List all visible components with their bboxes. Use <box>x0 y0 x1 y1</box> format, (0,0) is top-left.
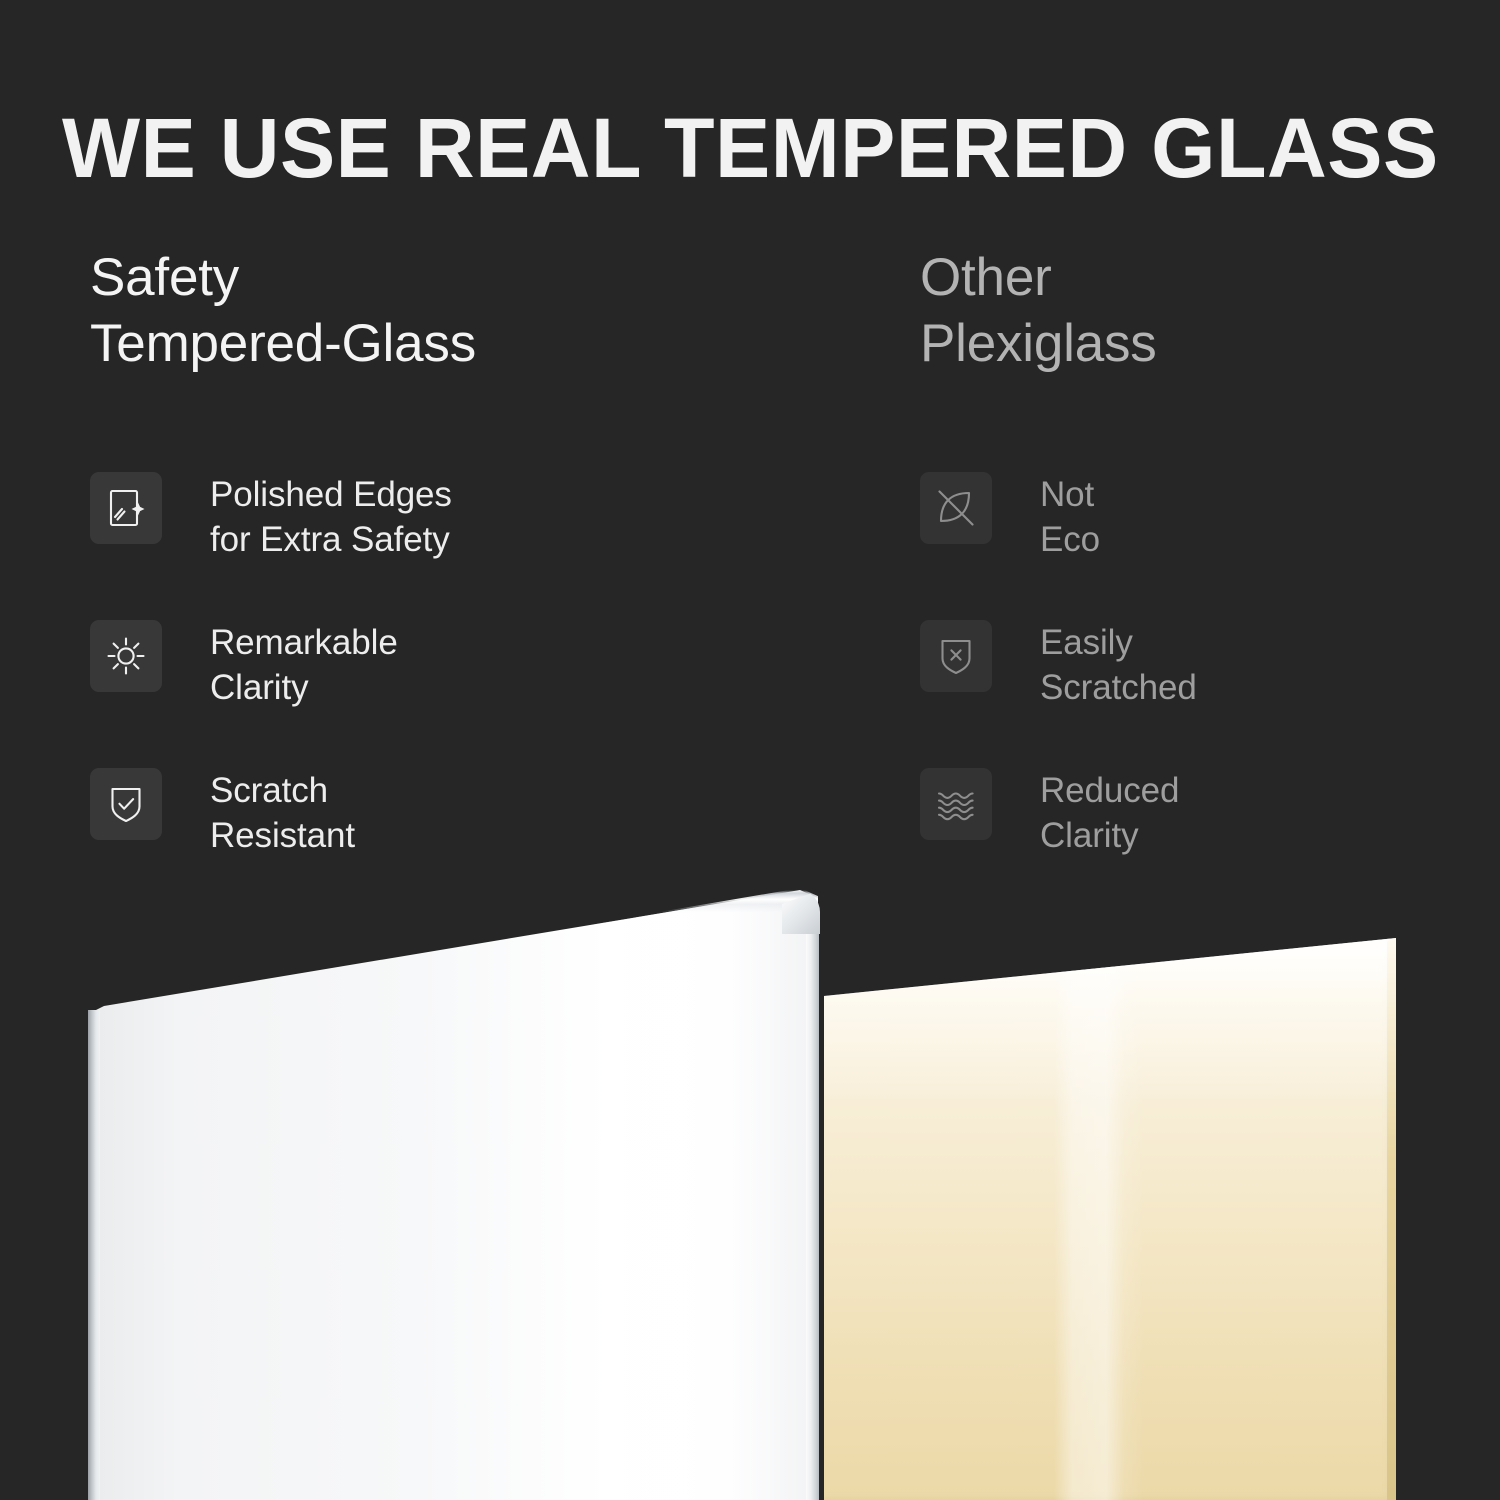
feature-not-eco: Not Eco <box>920 470 1480 618</box>
crossed-out-leaf-icon <box>920 472 992 544</box>
feature-polished-edges: Polished Edges for Extra Safety <box>90 470 850 618</box>
feature-label-reduced-clarity: Reduced Clarity <box>1040 766 1179 858</box>
tempered-glass-right-bevel-edge <box>806 906 819 1500</box>
feature-label-scratch-resistant: Scratch Resistant <box>210 766 355 858</box>
plexiglass-panel-reflection <box>824 938 1396 1500</box>
feature-remarkable-clarity: Remarkable Clarity <box>90 618 850 766</box>
polished-glass-pane-sparkle-icon <box>90 472 162 544</box>
plexiglass-panel-edge <box>1387 938 1396 1500</box>
feature-label-easily-scratched: Easily Scratched <box>1040 618 1197 710</box>
feature-label-polished-edges: Polished Edges for Extra Safety <box>210 470 452 562</box>
column-heading-left: Safety Tempered-Glass <box>90 245 850 377</box>
column-other-plexiglass: Other Plexiglass Not Eco <box>920 245 1480 377</box>
column-heading-right: Other Plexiglass <box>920 245 1480 377</box>
feature-label-remarkable-clarity: Remarkable Clarity <box>210 618 398 710</box>
feature-list-left: Polished Edges for Extra Safety Remarkab… <box>90 470 850 914</box>
page-title: WE USE REAL TEMPERED GLASS <box>62 98 1431 198</box>
feature-list-right: Not Eco Easily Scratched <box>920 470 1480 914</box>
shield-check-icon <box>90 768 162 840</box>
comparison-infographic: WE USE REAL TEMPERED GLASS Safety Temper… <box>0 0 1500 1500</box>
product-photo: Clear white tempered glass panel in fron… <box>0 860 1500 1500</box>
sun-clarity-icon <box>90 620 162 692</box>
column-safety-tempered-glass: Safety Tempered-Glass Polished Edges for… <box>90 245 850 377</box>
tempered-glass-left-bevel-edge <box>88 1010 100 1500</box>
shield-x-icon <box>920 620 992 692</box>
feature-label-not-eco: Not Eco <box>1040 470 1100 562</box>
feature-easily-scratched: Easily Scratched <box>920 618 1480 766</box>
tempered-glass-panel-reflection <box>88 890 818 1500</box>
wavy-lines-icon <box>920 768 992 840</box>
